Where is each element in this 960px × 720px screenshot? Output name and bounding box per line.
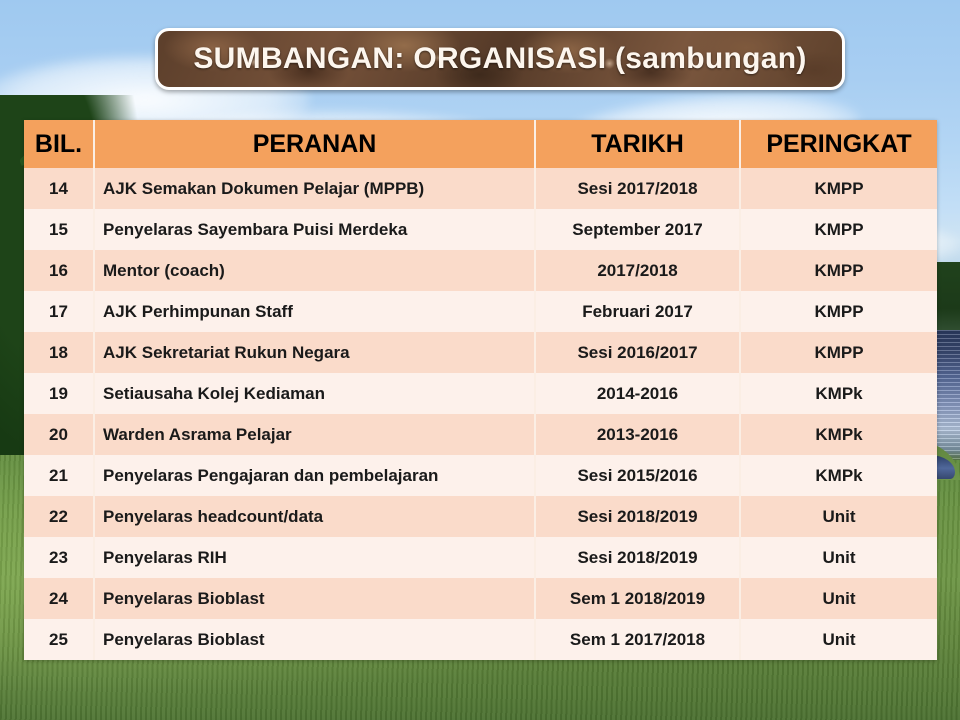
column-header-tarikh: TARIKH	[535, 120, 740, 168]
cell-bil: 25	[24, 619, 94, 660]
cell-peringkat: KMPP	[740, 209, 937, 250]
cell-peringkat: KMPP	[740, 250, 937, 291]
cell-peranan: Penyelaras RIH	[94, 537, 535, 578]
cell-bil: 21	[24, 455, 94, 496]
cell-peringkat: KMPP	[740, 291, 937, 332]
cell-bil: 14	[24, 168, 94, 209]
column-header-peranan: PERANAN	[94, 120, 535, 168]
cell-peringkat: Unit	[740, 578, 937, 619]
table-row: 16Mentor (coach)2017/2018KMPP	[24, 250, 937, 291]
cell-tarikh: Sem 1 2017/2018	[535, 619, 740, 660]
cell-bil: 22	[24, 496, 94, 537]
column-header-peringkat: PERINGKAT	[740, 120, 937, 168]
cell-bil: 15	[24, 209, 94, 250]
table-row: 14AJK Semakan Dokumen Pelajar (MPPB)Sesi…	[24, 168, 937, 209]
cell-peranan: Penyelaras Bioblast	[94, 578, 535, 619]
slide-title: SUMBANGAN: ORGANISASI (sambungan)	[193, 42, 806, 76]
table-row: 25Penyelaras BioblastSem 1 2017/2018Unit	[24, 619, 937, 660]
cell-tarikh: Sesi 2018/2019	[535, 496, 740, 537]
cell-peringkat: Unit	[740, 619, 937, 660]
cell-tarikh: Sesi 2015/2016	[535, 455, 740, 496]
cell-tarikh: Sem 1 2018/2019	[535, 578, 740, 619]
cell-tarikh: September 2017	[535, 209, 740, 250]
table-header-row: BIL. PERANAN TARIKH PERINGKAT	[24, 120, 937, 168]
cell-peringkat: KMPP	[740, 168, 937, 209]
cell-bil: 20	[24, 414, 94, 455]
table-row: 19Setiausaha Kolej Kediaman2014-2016KMPk	[24, 373, 937, 414]
column-header-bil: BIL.	[24, 120, 94, 168]
cell-bil: 17	[24, 291, 94, 332]
cell-peranan: AJK Perhimpunan Staff	[94, 291, 535, 332]
cell-peranan: Penyelaras Sayembara Puisi Merdeka	[94, 209, 535, 250]
cell-peringkat: KMPk	[740, 373, 937, 414]
table-body: 14AJK Semakan Dokumen Pelajar (MPPB)Sesi…	[24, 168, 937, 660]
cell-tarikh: 2014-2016	[535, 373, 740, 414]
cell-peranan: Penyelaras Pengajaran dan pembelajaran	[94, 455, 535, 496]
cell-bil: 18	[24, 332, 94, 373]
cell-tarikh: Februari 2017	[535, 291, 740, 332]
roles-table: BIL. PERANAN TARIKH PERINGKAT 14AJK Sema…	[24, 120, 937, 660]
slide-title-plaque: SUMBANGAN: ORGANISASI (sambungan)	[155, 28, 845, 90]
slide-canvas: SUMBANGAN: ORGANISASI (sambungan) BIL. P…	[0, 0, 960, 720]
table-row: 24Penyelaras BioblastSem 1 2018/2019Unit	[24, 578, 937, 619]
cell-peringkat: KMPP	[740, 332, 937, 373]
table-row: 15Penyelaras Sayembara Puisi MerdekaSept…	[24, 209, 937, 250]
cell-peranan: AJK Sekretariat Rukun Negara	[94, 332, 535, 373]
cell-tarikh: 2017/2018	[535, 250, 740, 291]
table-row: 21Penyelaras Pengajaran dan pembelajaran…	[24, 455, 937, 496]
cell-peringkat: Unit	[740, 496, 937, 537]
cell-tarikh: Sesi 2018/2019	[535, 537, 740, 578]
cell-peranan: Warden Asrama Pelajar	[94, 414, 535, 455]
cell-peranan: Penyelaras Bioblast	[94, 619, 535, 660]
table-row: 20Warden Asrama Pelajar2013-2016KMPk	[24, 414, 937, 455]
cell-bil: 23	[24, 537, 94, 578]
cell-peringkat: KMPk	[740, 455, 937, 496]
cell-bil: 19	[24, 373, 94, 414]
table-row: 18AJK Sekretariat Rukun NegaraSesi 2016/…	[24, 332, 937, 373]
cell-peranan: Setiausaha Kolej Kediaman	[94, 373, 535, 414]
cell-peringkat: KMPk	[740, 414, 937, 455]
table-row: 23Penyelaras RIHSesi 2018/2019Unit	[24, 537, 937, 578]
cell-bil: 16	[24, 250, 94, 291]
table-row: 17AJK Perhimpunan StaffFebruari 2017KMPP	[24, 291, 937, 332]
cell-peringkat: Unit	[740, 537, 937, 578]
cell-peranan: Penyelaras headcount/data	[94, 496, 535, 537]
cell-bil: 24	[24, 578, 94, 619]
table-header: BIL. PERANAN TARIKH PERINGKAT	[24, 120, 937, 168]
cell-tarikh: Sesi 2016/2017	[535, 332, 740, 373]
cell-peranan: Mentor (coach)	[94, 250, 535, 291]
cell-peranan: AJK Semakan Dokumen Pelajar (MPPB)	[94, 168, 535, 209]
table-row: 22Penyelaras headcount/dataSesi 2018/201…	[24, 496, 937, 537]
cell-tarikh: Sesi 2017/2018	[535, 168, 740, 209]
cell-tarikh: 2013-2016	[535, 414, 740, 455]
